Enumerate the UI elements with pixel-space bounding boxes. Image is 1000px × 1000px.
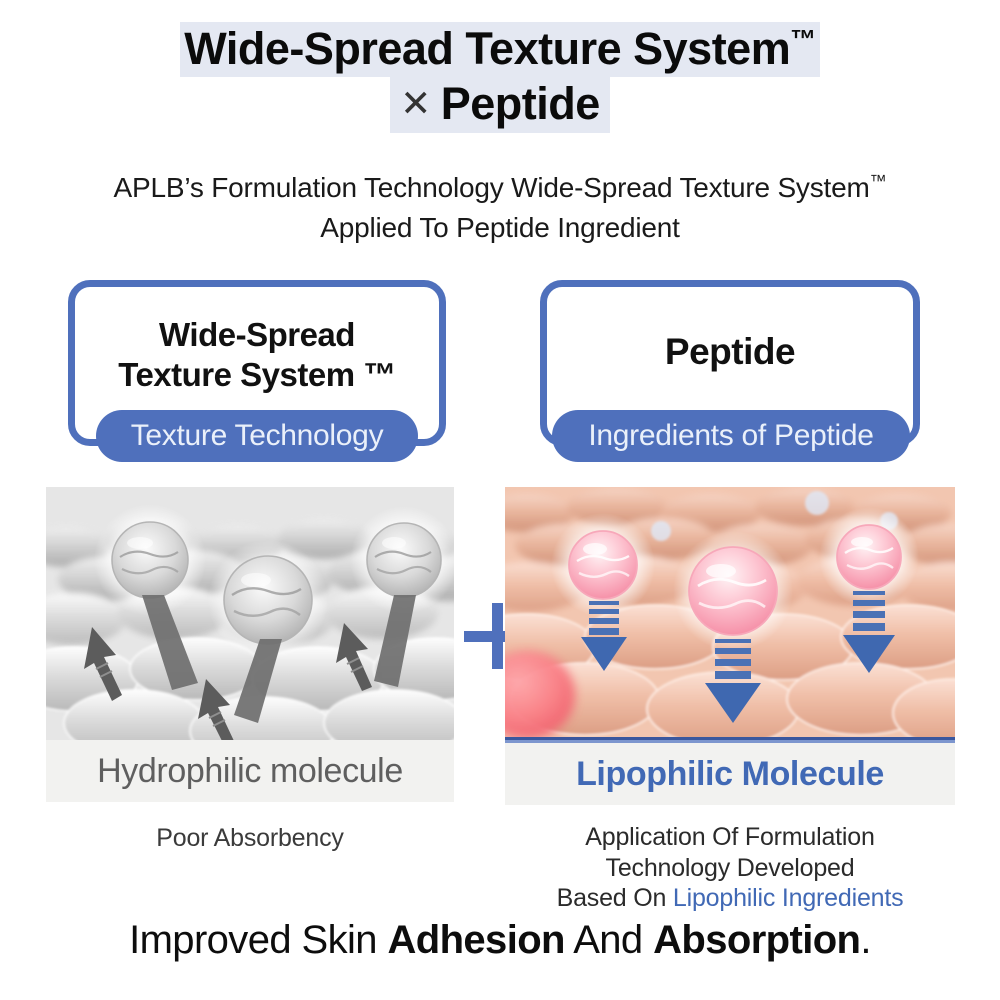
- title-line-1: Wide-Spread Texture System™: [0, 22, 1000, 77]
- footer-part-1: Improved Skin: [129, 918, 387, 962]
- lipophilic-illustration: [505, 487, 955, 737]
- lipophilic-caption-line-3: Based On Lipophilic Ingredients: [505, 883, 955, 914]
- title-line-1-highlight: Wide-Spread Texture System™: [180, 22, 819, 77]
- peptide-pill: Ingredients of Peptide: [552, 410, 910, 462]
- subtitle-line-2: Applied To Peptide Ingredient: [0, 208, 1000, 248]
- lipophilic-caption-prefix: Based On: [557, 884, 673, 912]
- title-line-1-text: Wide-Spread Texture System: [184, 23, 790, 74]
- title-line-2: ✕Peptide: [0, 77, 1000, 132]
- title-line-2-text: Peptide: [441, 78, 600, 129]
- hydrophilic-illustration: [46, 487, 454, 740]
- lipophilic-caption-line-2: Technology Developed: [505, 853, 955, 884]
- title-line-2-highlight: ✕Peptide: [390, 77, 610, 132]
- subtitle-line-1: APLB’s Formulation Technology Wide-Sprea…: [0, 168, 1000, 208]
- hydrophilic-caption: Poor Absorbency: [46, 824, 454, 853]
- lipophilic-panel: Lipophilic Molecule: [505, 487, 955, 805]
- multiply-icon: ✕: [400, 83, 441, 124]
- hydrophilic-scene-svg: [46, 487, 454, 740]
- lipophilic-caption: Application Of Formulation Technology De…: [505, 822, 955, 914]
- hydrophilic-label: Hydrophilic molecule: [46, 740, 454, 802]
- subtitle-line-1-text: APLB’s Formulation Technology Wide-Sprea…: [114, 172, 870, 203]
- footer-part-3: .: [860, 918, 871, 962]
- peptide-box: Peptide Ingredients of Peptide: [540, 280, 920, 446]
- page-title: Wide-Spread Texture System™ ✕Peptide: [0, 22, 1000, 133]
- hydrophilic-panel: Hydrophilic molecule: [46, 487, 454, 802]
- footer-bold-absorption: Absorption: [653, 918, 860, 962]
- texture-technology-pill: Texture Technology: [96, 410, 418, 462]
- footer-part-2: And: [565, 918, 653, 962]
- infographic-page: Wide-Spread Texture System™ ✕Peptide APL…: [0, 0, 1000, 1000]
- peptide-heading: Peptide: [665, 329, 795, 396]
- lipophilic-scene-svg: [505, 487, 955, 737]
- comparison-panels: Hydrophilic molecule: [0, 487, 1000, 809]
- footer-statement: Improved Skin Adhesion And Absorption.: [0, 918, 1000, 963]
- texture-technology-heading: Wide-Spread Texture System ™: [118, 315, 396, 412]
- lipophilic-caption-line-1: Application Of Formulation: [505, 822, 955, 853]
- texture-heading-line-2: Texture System ™: [118, 355, 396, 395]
- texture-technology-box: Wide-Spread Texture System ™ Texture Tec…: [68, 280, 446, 446]
- subtitle-trademark-symbol: ™: [870, 172, 887, 191]
- lipophilic-caption-highlight: Lipophilic Ingredients: [673, 884, 903, 912]
- trademark-symbol: ™: [790, 24, 816, 54]
- footer-bold-adhesion: Adhesion: [387, 918, 564, 962]
- formula-row: Wide-Spread Texture System ™ Texture Tec…: [0, 278, 1000, 468]
- texture-heading-line-1: Wide-Spread: [118, 315, 396, 355]
- subtitle: APLB’s Formulation Technology Wide-Sprea…: [0, 168, 1000, 248]
- lipophilic-label: Lipophilic Molecule: [505, 743, 955, 805]
